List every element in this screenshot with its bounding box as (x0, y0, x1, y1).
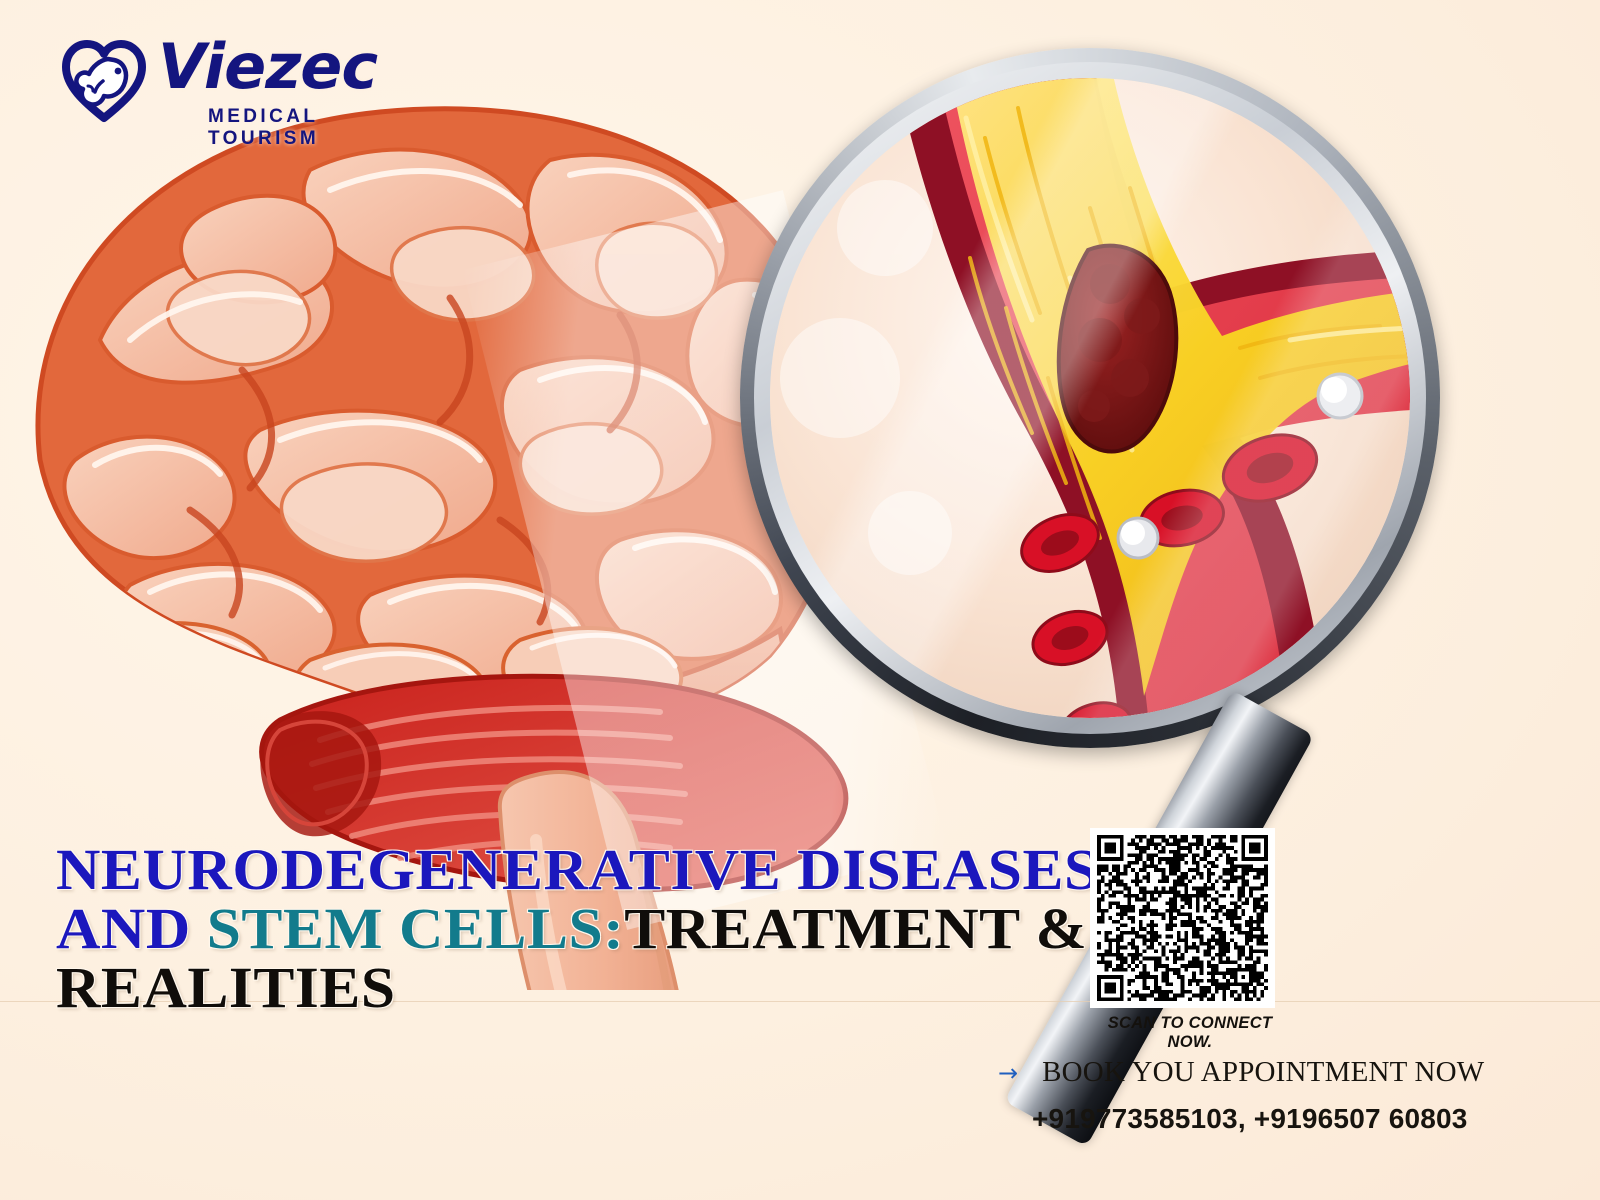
arrow-right-icon: → (998, 1061, 1018, 1085)
headline-line2-accent: STEM CELLS: (207, 896, 625, 961)
brand-tagline: MEDICAL TOURISM (208, 106, 388, 150)
booking-cta[interactable]: BOOK YOU APPOINTMENT NOW (1042, 1056, 1484, 1089)
headline-line1: NEURODEGENERATIVE DISEASES (56, 837, 1099, 902)
phone-numbers[interactable]: +919773585103, +9196507 60803 (1032, 1103, 1558, 1135)
headline-line2-suffix: TREATMENT & (624, 896, 1087, 961)
magnifier-lens (770, 78, 1410, 718)
headline-line2-prefix: AND (56, 896, 207, 961)
poster-canvas: Viezec MEDICAL TOURISM NEURODEGENERATIVE… (0, 0, 1600, 1200)
page-title: NEURODEGENERATIVE DISEASES AND STEM CELL… (56, 840, 1137, 1017)
qr-caption: SCAN TO CONNECT NOW. (1090, 1014, 1290, 1052)
qr-code-icon[interactable] (1090, 828, 1275, 1008)
qr-block[interactable]: SCAN TO CONNECT NOW. (1090, 828, 1300, 1052)
brand-name: Viezec (158, 36, 377, 98)
brand-logo[interactable]: Viezec MEDICAL TOURISM (58, 30, 388, 140)
magnifying-glass-icon (740, 48, 1440, 768)
heart-embryo-icon (58, 34, 150, 126)
clogged-artery-icon (770, 78, 1410, 718)
contact-block: → BOOK YOU APPOINTMENT NOW +919773585103… (998, 1056, 1558, 1135)
headline-line3: REALITIES (56, 955, 396, 1020)
